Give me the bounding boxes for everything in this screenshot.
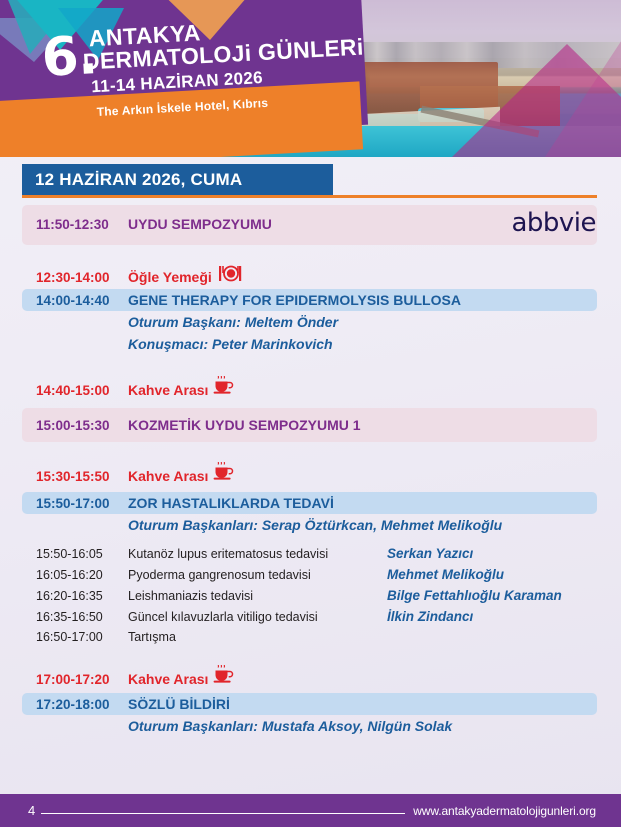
talk-time: 16:20-16:35: [36, 589, 128, 603]
program-row-ogle-yemegi: 12:30-14:00 Öğle Yemeği: [0, 251, 621, 288]
talk-title: Tartışma: [128, 630, 387, 644]
talk-time: 16:35-16:50: [36, 610, 128, 624]
coffee-icon: [213, 462, 235, 486]
talk-time: 16:05-16:20: [36, 568, 128, 582]
page-footer: 4 www.antakyadermatolojigunleri.org: [0, 794, 621, 827]
program-row-kahve-arasi-3: 17:00-17:20 Kahve Arası: [0, 651, 621, 692]
magenta-triangle-overlay-2: [545, 20, 621, 157]
program-row-gene-therapy: 14:00-14:40 GENE THERAPY FOR EPIDERMOLYS…: [0, 288, 621, 363]
talk-speaker: Mehmet Melikoğlu: [387, 567, 504, 582]
talk-time: 16:50-17:00: [36, 630, 128, 644]
session-title: GENE THERAPY FOR EPIDERMOLYSIS BULLOSA: [128, 292, 461, 308]
session-time: 15:30-15:50: [36, 469, 128, 484]
talk-row: 15:50-16:05 Kutanöz lupus eritematosus t…: [0, 546, 621, 567]
program-row-uydu-sempozyumu: 11:50-12:30 UYDU SEMPOZYUMU abbvie: [0, 203, 621, 251]
session-time: 14:00-14:40: [36, 293, 128, 308]
program-row-kahve-arasi-2: 15:30-15:50 Kahve Arası: [0, 454, 621, 490]
session-chairs: Oturum Başkanları: Mustafa Aksoy, Nilgün…: [0, 712, 621, 734]
session-time: 17:00-17:20: [36, 672, 128, 687]
session-chair: Oturum Başkanı: Meltem Önder: [0, 308, 621, 330]
talk-title: Pyoderma gangrenosum tedavisi: [128, 568, 387, 582]
session-time: 11:50-12:30: [36, 217, 128, 232]
session-time: 15:50-17:00: [36, 496, 128, 511]
session-title: Kahve Arası: [128, 382, 208, 398]
talk-row: 16:35-16:50 Güncel kılavuzlarla vitiligo…: [0, 609, 621, 630]
talk-time: 15:50-16:05: [36, 547, 128, 561]
program-row-sozlu-bildiri: 17:20-18:00 SÖZLÜ BİLDİRİ Oturum Başkanl…: [0, 692, 621, 742]
program-list: 11:50-12:30 UYDU SEMPOZYUMU abbvie 12:30…: [0, 203, 621, 742]
session-time: 12:30-14:00: [36, 270, 128, 285]
day-header: 12 HAZİRAN 2026, CUMA: [22, 164, 333, 195]
program-row-zor-hastaliklarda-tedavi: 15:50-17:00 ZOR HASTALIKLARDA TEDAVİ Otu…: [0, 490, 621, 540]
talk-list: 15:50-16:05 Kutanöz lupus eritematosus t…: [0, 540, 621, 651]
coffee-icon: [213, 376, 235, 400]
program-row-kozmetik-uydu-1: 15:00-15:30 KOZMETİK UYDU SEMPOZYUMU 1: [0, 404, 621, 454]
talk-row: 16:50-17:00 Tartışma: [0, 630, 621, 651]
day-header-label: 12 HAZİRAN 2026, CUMA: [22, 170, 242, 190]
footer-website-url[interactable]: www.antakyadermatolojigunleri.org: [413, 804, 596, 818]
talk-speaker: Bilge Fettahlıoğlu Karaman: [387, 588, 562, 603]
session-title: UYDU SEMPOZYUMU: [128, 216, 272, 232]
talk-row: 16:20-16:35 Leishmaniazis tedavisi Bilge…: [0, 588, 621, 609]
talk-title: Güncel kılavuzlarla vitiligo tedavisi: [128, 610, 387, 624]
session-title: Kahve Arası: [128, 468, 208, 484]
session-title: Kahve Arası: [128, 671, 208, 687]
talk-row: 16:05-16:20 Pyoderma gangrenosum tedavis…: [0, 567, 621, 588]
talk-speaker: Serkan Yazıcı: [387, 546, 473, 561]
session-title: Öğle Yemeği: [128, 269, 212, 285]
session-title: SÖZLÜ BİLDİRİ: [128, 696, 230, 712]
talk-title: Kutanöz lupus eritematosus tedavisi: [128, 547, 387, 561]
talk-title: Leishmaniazis tedavisi: [128, 589, 387, 603]
session-time: 15:00-15:30: [36, 418, 128, 433]
header-banner: 6. ANTAKYA DERMATOLOJi GÜNLERi 11-14 HAZ…: [0, 0, 621, 157]
coffee-icon: [213, 665, 235, 689]
session-time: 14:40-15:00: [36, 383, 128, 398]
session-title: KOZMETİK UYDU SEMPOZYUMU 1: [128, 417, 361, 433]
restaurant-icon: [218, 265, 244, 287]
sponsor-logo-abbvie: abbvie: [511, 208, 596, 238]
program-row-kahve-arasi-1: 14:40-15:00 Kahve Arası: [0, 363, 621, 404]
talk-speaker: İlkin Zindancı: [387, 609, 473, 624]
session-speaker: Konuşmacı: Peter Marinkovich: [0, 330, 621, 352]
session-title: ZOR HASTALIKLARDA TEDAVİ: [128, 495, 334, 511]
session-time: 17:20-18:00: [36, 697, 128, 712]
footer-divider: [41, 813, 405, 814]
page-number: 4: [28, 803, 35, 818]
day-header-rule: [22, 195, 597, 198]
session-chairs: Oturum Başkanları: Serap Öztürkcan, Mehm…: [0, 511, 621, 533]
